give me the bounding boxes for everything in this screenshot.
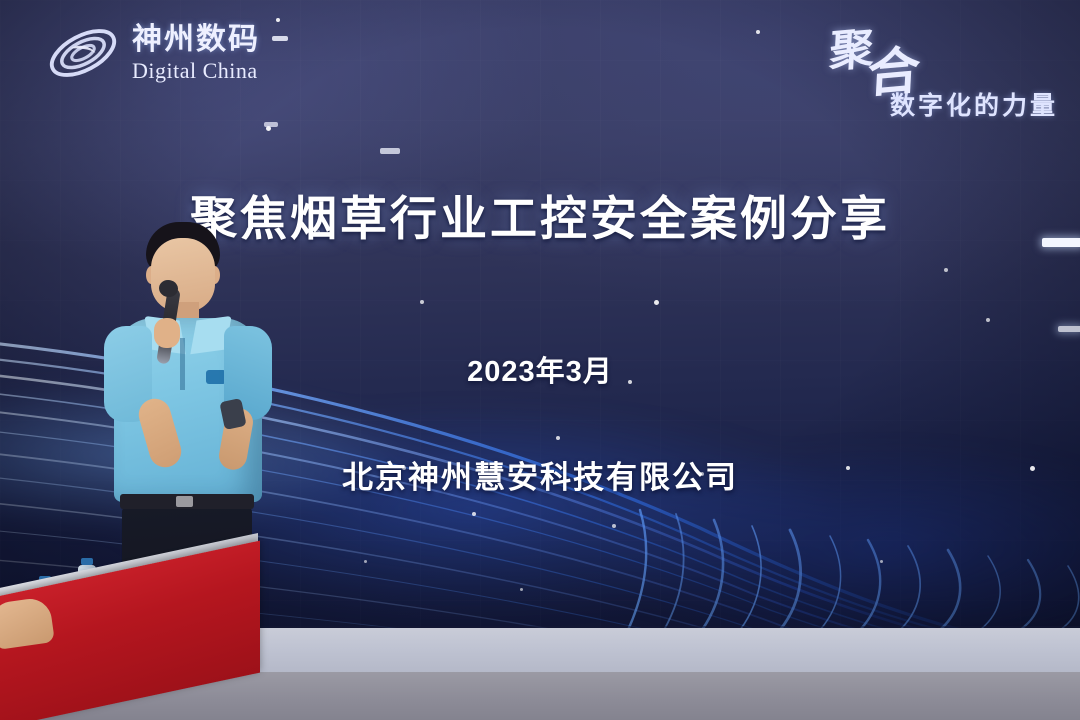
speaker-shirt-placket — [180, 338, 185, 390]
event-tagline: 数字化的力量 — [808, 86, 1058, 122]
logo-name-en: Digital China — [132, 60, 260, 82]
logo-name-cn: 神州数码 — [132, 25, 260, 55]
event-logo: 聚 合 数字化的力量 — [808, 18, 1058, 122]
speaker-face — [151, 238, 215, 312]
speaker-hand-holding-mic — [154, 318, 180, 348]
conference-photo: 神州数码 Digital China 聚 合 数字化的力量 聚焦烟草行业工控安全… — [0, 0, 1080, 720]
speaker-belt-buckle — [176, 496, 193, 507]
digital-china-swirl-icon — [44, 22, 122, 84]
calligraphy-char-he: 合 — [866, 28, 922, 107]
speaker-shirt-logo — [206, 370, 226, 384]
event-calligraphy: 聚 合 — [808, 18, 1058, 84]
digital-china-logo: 神州数码 Digital China — [44, 22, 260, 84]
